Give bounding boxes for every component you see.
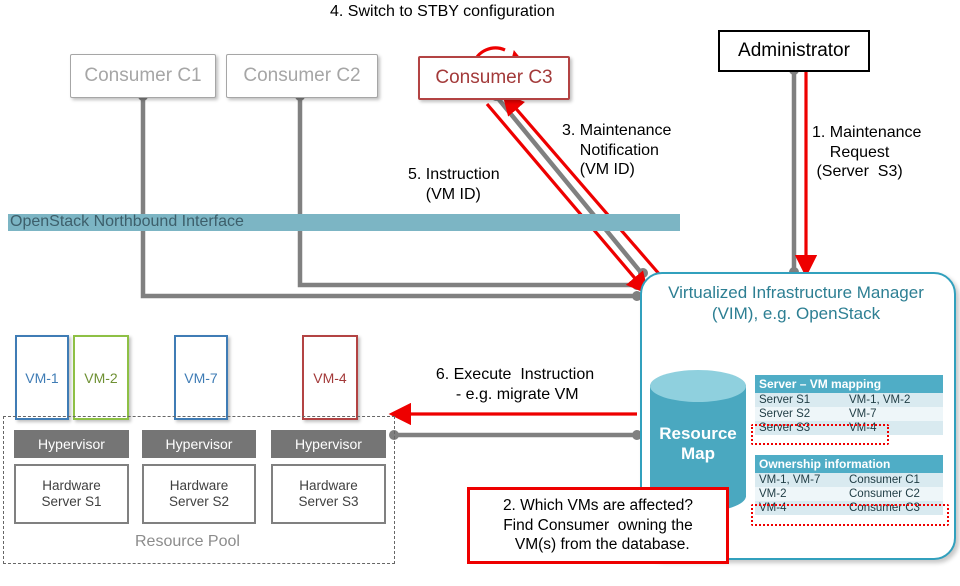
cell-server: Server S1 <box>755 393 845 407</box>
cell-vms: VM-4 <box>755 501 845 515</box>
cell-vms: VM-1, VM-7 <box>755 473 845 487</box>
vm-box-vm-7[interactable]: VM-7 <box>174 335 228 420</box>
cell-consumer: Consumer C1 <box>845 473 943 487</box>
table-row: Server S1 VM-1, VM-2 <box>755 393 943 407</box>
table-row: VM-1, VM-7 Consumer C1 <box>755 473 943 487</box>
vm-label: VM-2 <box>84 370 117 386</box>
resource-pool-label: Resource Pool <box>135 533 240 551</box>
cell-consumer: Consumer C2 <box>845 487 943 501</box>
cell-server: Server S2 <box>755 407 845 421</box>
annotation-step-1: 1. Maintenance Request (Server S3) <box>812 123 921 182</box>
vim-title: Virtualized Infrastructure Manager (VIM)… <box>642 282 950 325</box>
cell-vms: VM-2 <box>755 487 845 501</box>
vm-label: VM-1 <box>25 370 58 386</box>
administrator-box[interactable]: Administrator <box>718 30 870 72</box>
table-row-highlighted: VM-4 Consumer C3 <box>755 501 943 515</box>
annotation-step-4: 4. Switch to STBY configuration <box>330 2 555 22</box>
consumer-label: Consumer C3 <box>435 67 552 89</box>
server-vm-mapping-table: Server – VM mapping Server S1 VM-1, VM-2… <box>755 375 943 435</box>
hardware-line2: Server S2 <box>169 494 229 510</box>
resource-map-line1: Resource <box>650 424 746 444</box>
cell-vms: VM-4 <box>845 421 943 435</box>
resource-map-label: Resource Map <box>650 424 746 465</box>
consumer-label: Consumer C2 <box>243 65 360 87</box>
vm-box-vm-1[interactable]: VM-1 <box>15 335 69 420</box>
hypervisor-label: Hypervisor <box>166 436 233 452</box>
northbound-label: OpenStack Northbound Interface <box>10 213 244 231</box>
resource-map-cylinder-top <box>650 370 746 402</box>
hardware-line2: Server S3 <box>298 494 358 510</box>
vim-title-line2: (VIM), e.g. OpenStack <box>642 303 950 324</box>
table-header-row: Server – VM mapping <box>755 375 943 393</box>
annotation-step-3: 3. Maintenance Notification (VM ID) <box>562 121 671 180</box>
hardware-line2: Server S1 <box>41 494 101 510</box>
hypervisor-label: Hypervisor <box>38 436 105 452</box>
hardware-line1: Hardware <box>169 478 229 494</box>
administrator-label: Administrator <box>738 40 850 62</box>
vim-title-line1: Virtualized Infrastructure Manager <box>642 282 950 303</box>
vm-box-vm-2[interactable]: VM-2 <box>73 335 129 420</box>
hardware-line1: Hardware <box>298 478 358 494</box>
table-row: VM-2 Consumer C2 <box>755 487 943 501</box>
cell-server: Server S3 <box>755 421 845 435</box>
annotation-step-5: 5. Instruction (VM ID) <box>408 165 500 204</box>
consumer-box-c3[interactable]: Consumer C3 <box>418 56 570 100</box>
cell-consumer: Consumer C3 <box>845 501 943 515</box>
consumer-box-c2[interactable]: Consumer C2 <box>226 54 378 98</box>
consumer-box-c1[interactable]: Consumer C1 <box>70 54 216 98</box>
hardware-server-box-2[interactable]: Hardware Server S2 <box>142 464 256 524</box>
hypervisor-label: Hypervisor <box>295 436 362 452</box>
table-row: Server S2 VM-7 <box>755 407 943 421</box>
consumer-label: Consumer C1 <box>84 65 201 87</box>
vm-label: VM-4 <box>313 370 346 386</box>
callout-step-2: 2. Which VMs are affected? Find Consumer… <box>467 487 729 564</box>
table-header-row: Ownership information <box>755 455 943 473</box>
table-header-label: Ownership information <box>755 455 943 473</box>
cell-vms: VM-1, VM-2 <box>845 393 943 407</box>
vm-label: VM-7 <box>184 370 217 386</box>
diagram-canvas: OpenStack Northbound Interface Consumer … <box>0 0 960 586</box>
hypervisor-box-1[interactable]: Hypervisor <box>14 430 129 458</box>
table-row-highlighted: Server S3 VM-4 <box>755 421 943 435</box>
table-header-label: Server – VM mapping <box>755 375 943 393</box>
hardware-server-box-1[interactable]: Hardware Server S1 <box>14 464 129 524</box>
hypervisor-box-2[interactable]: Hypervisor <box>142 430 256 458</box>
hypervisor-box-3[interactable]: Hypervisor <box>271 430 386 458</box>
hardware-line1: Hardware <box>41 478 101 494</box>
resource-map-line2: Map <box>650 444 746 464</box>
vm-box-vm-4[interactable]: VM-4 <box>302 335 358 420</box>
hardware-server-box-3[interactable]: Hardware Server S3 <box>271 464 386 524</box>
ownership-information-table: Ownership information VM-1, VM-7 Consume… <box>755 455 943 515</box>
annotation-step-6: 6. Execute Instruction - e.g. migrate VM <box>410 365 620 404</box>
cell-vms: VM-7 <box>845 407 943 421</box>
